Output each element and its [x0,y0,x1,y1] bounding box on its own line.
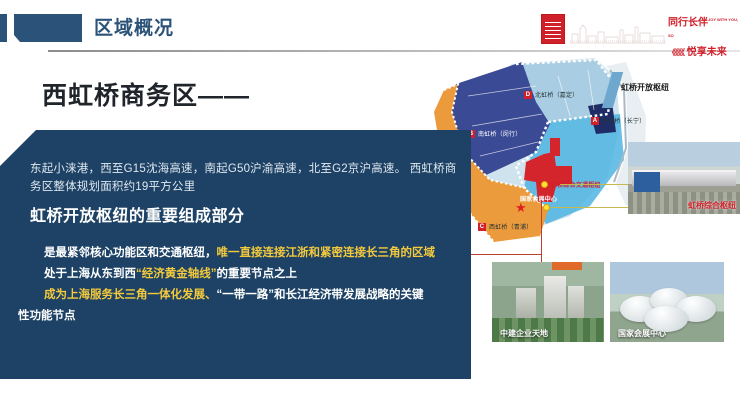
map-callout-dot-expo [543,204,550,211]
section-heading: 西虹桥商务区—— [42,79,250,113]
bullet-3-post: “一带一路”和长江经济带发展战略的关键 [217,289,424,301]
bullet-1-pre: 是最紧邻核心功能区和交通枢纽， [44,247,217,259]
photo-cbd-building-a [544,276,566,322]
photo-hub-building [634,172,660,194]
slide-footer-strip [0,408,740,417]
header-accent-chip [14,14,82,42]
map-region-tag-d: D [524,91,532,99]
bullet-2-post: 的重要节点之上 [217,268,298,280]
map-hub-title: 虹桥开放枢纽 [621,82,669,93]
map-region-label-d: D北虹桥（嘉定） [524,90,578,99]
photo-cbd-building-c [516,288,536,322]
photo-caption-cbd: 中建企业天地 [500,328,548,339]
slogan-line-1: 同行长伴 [668,17,708,28]
bullet-4-text: 性功能节点 [18,310,76,322]
map-region-name-c: 西虹桥（青浦） [489,225,532,231]
page-title: 区域概况 [94,15,174,42]
photo-caption-hub: 虹桥综合枢纽 [688,200,736,211]
bullet-2-pre: 处于上海从东到西 [44,268,136,280]
slogan-chevrons: 《《《《 [668,48,684,57]
bullet-line-2: 处于上海从东到西“经济黄金轴线”的重要节点之上 [18,264,470,285]
header-divider [48,50,740,52]
connector-top [470,254,542,255]
company-logo-icon [541,14,565,44]
brand-slogan: 同行长伴JOY WITH YOU, SO 《《《《 悦享未来 [668,13,740,45]
bullet-1-highlight: 唯一直接连接江浙和紧密连接长三角的区域 [217,247,436,259]
slide-header: 区域概况 同行长伴JOY WITH YOU, SO [0,0,740,56]
info-panel-intro: 东起小涞港，西至G15沈海高速，南起G50沪渝高速，北至G2京沪高速。 西虹桥商… [30,160,458,196]
map-region-tag-a: A [591,117,599,125]
map-callout-dot-hub [541,181,548,188]
photo-cbd-roof [552,262,582,270]
slogan-line-2: 悦享未来 [687,47,727,58]
photo-caption-expo: 国家会展中心 [618,328,666,339]
map-region-label-c: C西虹桥（青浦） [478,222,532,231]
bullet-3-highlight: 成为上海服务长三角一体化发展、 [44,289,217,301]
map-star-marker: ★ [515,201,527,214]
photo-cscec-plaza: 中建企业天地 [492,262,604,342]
slide-root: 区域概况 同行长伴JOY WITH YOU, SO [0,0,740,417]
map-region-name-a: 东虹桥（长宁） [602,119,645,125]
info-panel-subtitle: 虹桥开放枢纽的重要组成部分 [30,202,245,226]
bullet-2-highlight: “经济黄金轴线” [136,268,217,280]
bullet-line-4: 性功能节点 [18,306,470,327]
info-panel-bullets: 是最紧邻核心功能区和交通枢纽，唯一直接连接江浙和紧密连接长三角的区域 处于上海从… [18,243,470,327]
bullet-line-1: 是最紧邻核心功能区和交通枢纽，唯一直接连接江浙和紧密连接长三角的区域 [18,243,470,264]
photo-necc-expo: 国家会展中心 [610,262,724,342]
connector-right [541,200,542,262]
header-accent-tick [0,14,7,42]
map-region-label-b: B南虹桥（闵行） [467,129,521,138]
map-region-name-b: 南虹桥（闵行） [478,132,521,138]
skyline-decoration-icon [570,20,666,44]
bullet-line-3: 成为上海服务长三角一体化发展、“一带一路”和长江经济带发展战略的关键 [18,285,470,306]
photo-cbd-building-b [568,286,584,322]
map-region-name-d: 北虹桥（嘉定） [535,93,578,99]
photo-hongqiao-hub: 虹桥综合枢纽 [628,142,740,214]
map-region-tag-c: C [478,223,486,231]
map-region-label-a: A东虹桥（长宁） [591,116,645,125]
